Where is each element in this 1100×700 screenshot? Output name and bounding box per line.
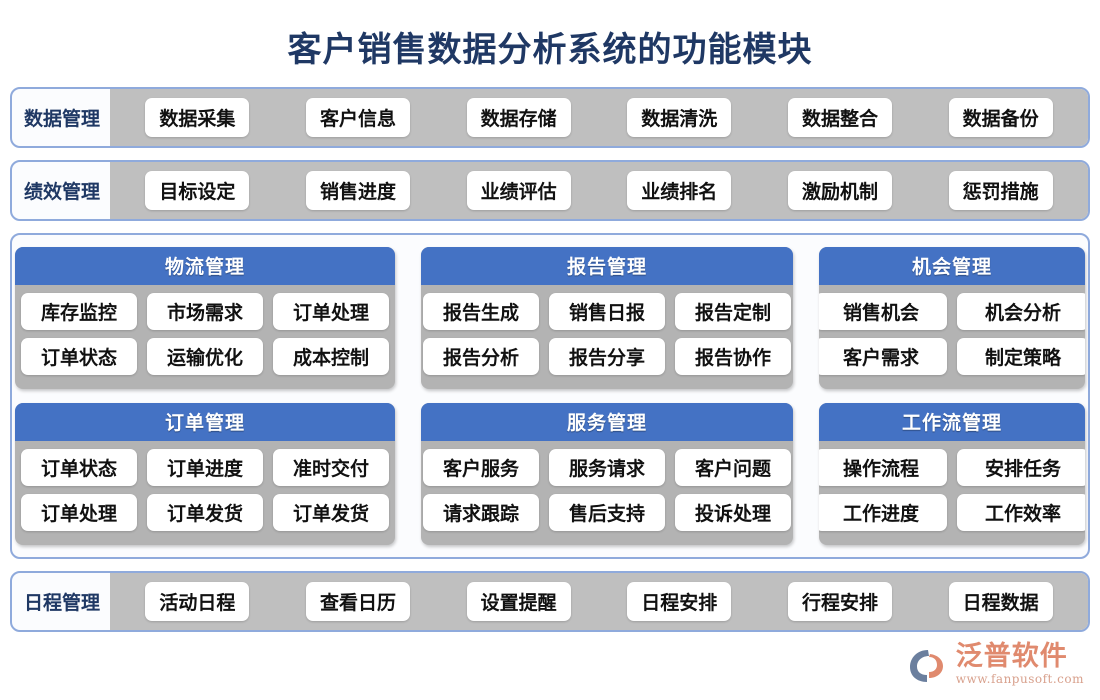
chip-market-demand[interactable]: 市场需求	[147, 293, 263, 330]
panel-row: 订单处理 订单发货 订单发货	[25, 494, 385, 531]
chip-operation-flow[interactable]: 操作流程	[819, 449, 947, 486]
chip-schedule-data[interactable]: 日程数据	[949, 582, 1053, 621]
chip-complaint-handle[interactable]: 投诉处理	[675, 494, 791, 531]
chip-order-process-2[interactable]: 订单处理	[21, 494, 137, 531]
panel-body-logistics: 库存监控 市场需求 订单处理 订单状态 运输优化 成本控制	[15, 285, 395, 389]
chip-customer-info[interactable]: 客户信息	[306, 98, 410, 137]
panel-row: 工作进度 工作效率	[829, 494, 1075, 531]
chip-work-efficiency[interactable]: 工作效率	[957, 494, 1085, 531]
chip-set-reminder[interactable]: 设置提醒	[467, 582, 571, 621]
panel-title-opportunity: 机会管理	[819, 247, 1085, 285]
panel-row: 报告分析 报告分享 报告协作	[431, 338, 783, 375]
chip-order-processing[interactable]: 订单处理	[273, 293, 389, 330]
chip-customer-demand[interactable]: 客户需求	[819, 338, 947, 375]
band-label-schedule-management: 日程管理	[12, 573, 110, 630]
panel-row: 操作流程 安排任务	[829, 449, 1075, 486]
panel-body-workflow: 操作流程 安排任务 工作进度 工作效率	[819, 441, 1085, 545]
panel-row: 库存监控 市场需求 订单处理	[25, 293, 385, 330]
panel-title-service: 服务管理	[421, 403, 793, 441]
chip-order-status-2[interactable]: 订单状态	[21, 449, 137, 486]
logo-url: www.fanpusoft.com	[956, 670, 1084, 688]
chip-arrange-task[interactable]: 安排任务	[957, 449, 1085, 486]
chip-incentive[interactable]: 激励机制	[788, 171, 892, 210]
panel-body-service: 客户服务 服务请求 客户问题 请求跟踪 售后支持 投诉处理	[421, 441, 793, 545]
middle-panels-container: 泛普软件 物流管理 库存监控 市场需求 订单处理 订单状态 运输优化 成本控制 …	[10, 233, 1090, 559]
chip-schedule-arrange[interactable]: 日程安排	[627, 582, 731, 621]
chip-sales-progress[interactable]: 销售进度	[306, 171, 410, 210]
chip-penalty[interactable]: 惩罚措施	[949, 171, 1053, 210]
chip-strategy-make[interactable]: 制定策略	[957, 338, 1085, 375]
chip-report-custom[interactable]: 报告定制	[675, 293, 791, 330]
band-label-performance-management: 绩效管理	[12, 162, 110, 219]
chip-opportunity-analysis[interactable]: 机会分析	[957, 293, 1085, 330]
panel-row: 报告生成 销售日报 报告定制	[431, 293, 783, 330]
chip-report-analysis[interactable]: 报告分析	[423, 338, 539, 375]
chip-inventory-monitor[interactable]: 库存监控	[21, 293, 137, 330]
panel-logistics: 物流管理 库存监控 市场需求 订单处理 订单状态 运输优化 成本控制	[15, 247, 395, 389]
panel-row: 请求跟踪 售后支持 投诉处理	[431, 494, 783, 531]
chip-performance-eval[interactable]: 业绩评估	[467, 171, 571, 210]
chip-after-sales[interactable]: 售后支持	[549, 494, 665, 531]
logo-brand-name: 泛普软件	[956, 643, 1068, 670]
chip-order-progress[interactable]: 订单进度	[147, 449, 263, 486]
panel-row: 订单状态 订单进度 准时交付	[25, 449, 385, 486]
chip-work-progress[interactable]: 工作进度	[819, 494, 947, 531]
panel-title-workflow: 工作流管理	[819, 403, 1085, 441]
chip-data-storage[interactable]: 数据存储	[467, 98, 571, 137]
band-schedule-management: 日程管理 活动日程 查看日历 设置提醒 日程安排 行程安排 日程数据	[10, 571, 1090, 632]
band-strip-schedule-management: 活动日程 查看日历 设置提醒 日程安排 行程安排 日程数据	[110, 573, 1088, 630]
chip-activity-schedule[interactable]: 活动日程	[145, 582, 249, 621]
panel-row: 客户服务 服务请求 客户问题	[431, 449, 783, 486]
chip-report-generate[interactable]: 报告生成	[423, 293, 539, 330]
band-data-management: 数据管理 数据采集 客户信息 数据存储 数据清洗 数据整合 数据备份	[10, 87, 1090, 148]
chip-request-tracking[interactable]: 请求跟踪	[423, 494, 539, 531]
panels-grid: 物流管理 库存监控 市场需求 订单处理 订单状态 运输优化 成本控制 报告管理 …	[26, 247, 1074, 545]
logo-text-wrap: 泛普软件 www.fanpusoft.com	[956, 643, 1084, 688]
panel-row: 销售机会 机会分析	[829, 293, 1075, 330]
panel-title-report: 报告管理	[421, 247, 793, 285]
footer-logo: 泛普软件 www.fanpusoft.com	[908, 643, 1084, 688]
chip-data-integration[interactable]: 数据整合	[788, 98, 892, 137]
panel-body-order: 订单状态 订单进度 准时交付 订单处理 订单发货 订单发货	[15, 441, 395, 545]
chip-order-shipping[interactable]: 订单发货	[147, 494, 263, 531]
chip-report-share[interactable]: 报告分享	[549, 338, 665, 375]
chip-sales-opportunity[interactable]: 销售机会	[819, 293, 947, 330]
panel-row: 订单状态 运输优化 成本控制	[25, 338, 385, 375]
chip-cost-control[interactable]: 成本控制	[273, 338, 389, 375]
panel-row: 客户需求 制定策略	[829, 338, 1075, 375]
panel-workflow: 工作流管理 操作流程 安排任务 工作进度 工作效率	[819, 403, 1085, 545]
chip-data-collection[interactable]: 数据采集	[145, 98, 249, 137]
chip-data-cleaning[interactable]: 数据清洗	[627, 98, 731, 137]
fanpu-logo-icon	[908, 648, 948, 684]
chip-ontime-delivery[interactable]: 准时交付	[273, 449, 389, 486]
chip-data-backup[interactable]: 数据备份	[949, 98, 1053, 137]
chip-trip-arrange[interactable]: 行程安排	[788, 582, 892, 621]
panel-title-order: 订单管理	[15, 403, 395, 441]
band-strip-data-management: 数据采集 客户信息 数据存储 数据清洗 数据整合 数据备份	[110, 89, 1088, 146]
chip-order-shipping-2[interactable]: 订单发货	[273, 494, 389, 531]
band-strip-performance-management: 目标设定 销售进度 业绩评估 业绩排名 激励机制 惩罚措施	[110, 162, 1088, 219]
band-performance-management: 绩效管理 目标设定 销售进度 业绩评估 业绩排名 激励机制 惩罚措施	[10, 160, 1090, 221]
panel-opportunity: 机会管理 销售机会 机会分析 客户需求 制定策略	[819, 247, 1085, 389]
chip-transport-optimize[interactable]: 运输优化	[147, 338, 263, 375]
panel-body-report: 报告生成 销售日报 报告定制 报告分析 报告分享 报告协作	[421, 285, 793, 389]
chip-service-request[interactable]: 服务请求	[549, 449, 665, 486]
chip-performance-rank[interactable]: 业绩排名	[627, 171, 731, 210]
chip-report-collab[interactable]: 报告协作	[675, 338, 791, 375]
panel-order: 订单管理 订单状态 订单进度 准时交付 订单处理 订单发货 订单发货	[15, 403, 395, 545]
panel-service: 服务管理 客户服务 服务请求 客户问题 请求跟踪 售后支持 投诉处理	[421, 403, 793, 545]
band-label-data-management: 数据管理	[12, 89, 110, 146]
chip-customer-service[interactable]: 客户服务	[423, 449, 539, 486]
chip-customer-issue[interactable]: 客户问题	[675, 449, 791, 486]
chip-order-status[interactable]: 订单状态	[21, 338, 137, 375]
page-title: 客户销售数据分析系统的功能模块	[0, 0, 1100, 87]
chip-view-calendar[interactable]: 查看日历	[306, 582, 410, 621]
panel-report: 报告管理 报告生成 销售日报 报告定制 报告分析 报告分享 报告协作	[421, 247, 793, 389]
chip-goal-setting[interactable]: 目标设定	[145, 171, 249, 210]
panel-title-logistics: 物流管理	[15, 247, 395, 285]
panel-body-opportunity: 销售机会 机会分析 客户需求 制定策略	[819, 285, 1085, 389]
chip-sales-daily[interactable]: 销售日报	[549, 293, 665, 330]
